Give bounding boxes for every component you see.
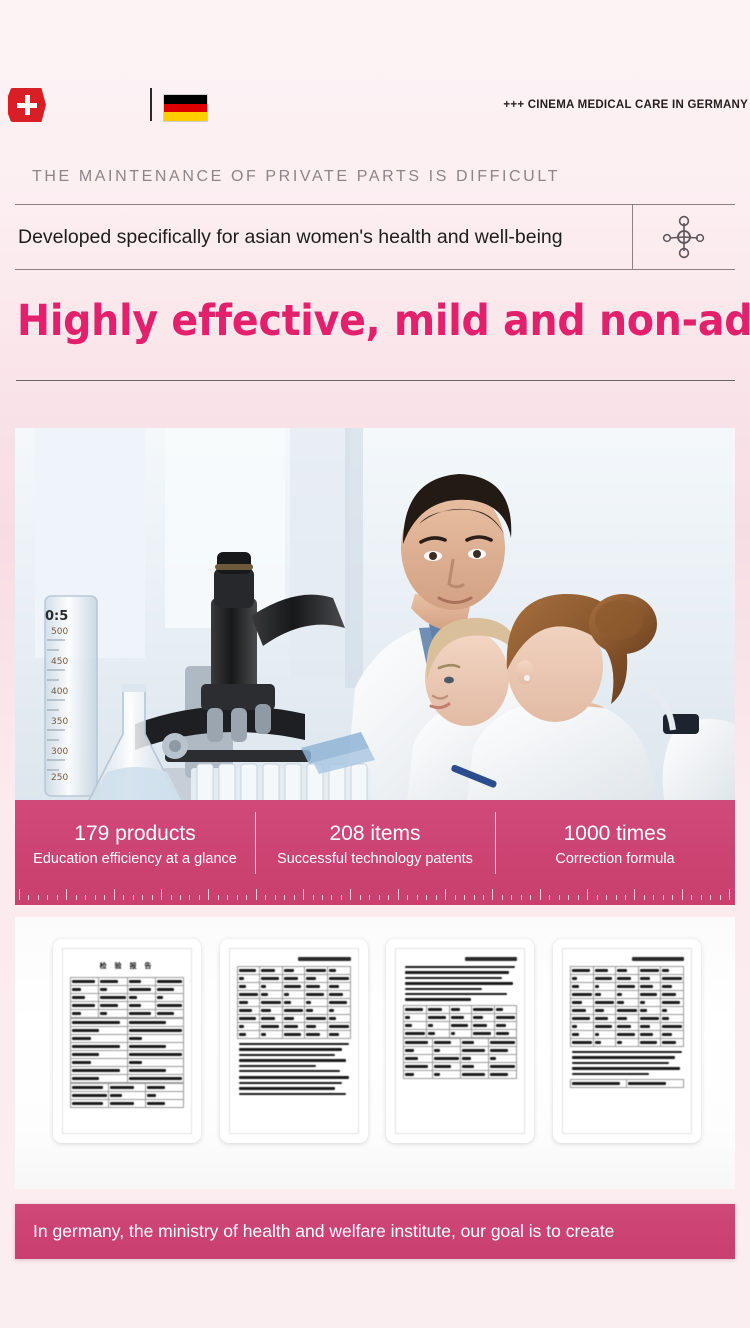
cert-table-cell: [472, 1013, 495, 1021]
cert-table-row: [570, 1031, 683, 1039]
ruler-tick: [455, 895, 456, 900]
cert-text-blur: [239, 1033, 246, 1036]
cert-text-blur: [306, 1033, 320, 1036]
cert-text-blur: [157, 980, 182, 983]
ruler-tick: [474, 895, 475, 900]
cert-table-row: [404, 1021, 517, 1029]
cert-table-row: [237, 983, 350, 991]
cert-table-cell: [661, 983, 684, 991]
stat-value: 208 items: [255, 820, 495, 848]
cert-text-blur: [110, 1102, 134, 1105]
cert-table-cell: [108, 1092, 146, 1100]
ruler-tick: [133, 895, 134, 900]
ruler-tick: [625, 895, 626, 900]
cert-text-blur: [306, 977, 316, 980]
cert-table-cell: [127, 1051, 184, 1059]
cert-table-row: [404, 1005, 517, 1013]
cert-table-cell: [155, 1002, 183, 1010]
cert-table-cell: [616, 1007, 639, 1015]
cert-table-row: [71, 1035, 184, 1043]
cert-table-cell: [460, 1046, 488, 1054]
cert-text-blur: [239, 1009, 253, 1012]
cert-text-blur: [239, 1065, 316, 1067]
cert-table-row: [71, 1043, 184, 1051]
cert-table-row: [237, 1015, 350, 1023]
ruler-tick: [720, 895, 721, 900]
cert-text-blur: [405, 977, 502, 979]
cert-text-blur: [239, 1017, 257, 1020]
cert-table-cell: [570, 967, 593, 975]
cert-table-row: [71, 1067, 184, 1075]
cert-text-blur: [640, 1033, 654, 1036]
kicker-text: THE MAINTENANCE OF PRIVATE PARTS IS DIFF…: [32, 168, 560, 186]
cert-table-cell: [237, 1031, 260, 1039]
cert-table-cell: [404, 1046, 432, 1054]
ruler-tick: [322, 895, 323, 900]
cert-table-cell: [426, 1029, 449, 1037]
cert-table-cell: [489, 1054, 517, 1062]
svg-text:500: 500: [51, 627, 68, 637]
cert-text-blur: [662, 969, 669, 972]
subhead-bar: Developed specifically for asian women's…: [15, 204, 735, 270]
cert-table-cell: [570, 1015, 593, 1023]
cert-table-cell: [638, 999, 661, 1007]
cert-text-blur: [490, 1065, 515, 1068]
cert-table-row: [570, 1015, 683, 1023]
ruler-tick: [549, 895, 550, 900]
cert-text-blur: [129, 1069, 166, 1072]
cert-table-cell: [593, 999, 616, 1007]
ruler-tick: [19, 889, 20, 900]
cert-table-cell: [494, 1013, 517, 1021]
cert-table-row: [404, 1038, 517, 1046]
cert-text-blur: [462, 1073, 485, 1076]
cert-table-cell: [305, 1015, 328, 1023]
ruler-tick: [540, 889, 541, 900]
cert-table-cell: [71, 978, 99, 986]
cert-table-cell: [328, 1007, 351, 1015]
ruler-tick: [634, 889, 635, 900]
cert-text-blur: [129, 988, 152, 991]
cert-table-row: [237, 991, 350, 999]
cert-text-blur: [662, 1017, 669, 1020]
ruler-tick: [360, 895, 361, 900]
ruler-tick: [729, 889, 730, 900]
cert-text-blur: [473, 1016, 483, 1019]
cert-table-row: [570, 1007, 683, 1015]
cert-text-blur: [473, 1032, 491, 1035]
cert-table-cell: [404, 1038, 432, 1046]
ruler-tick: [701, 895, 702, 900]
cert-text-blur: [284, 985, 302, 988]
cert-table-cell: [404, 1054, 432, 1062]
cert-text-blur: [239, 1059, 347, 1061]
cert-table-cell: [282, 1007, 305, 1015]
cert-table-cell: [661, 1023, 684, 1031]
ruler-tick: [284, 895, 285, 900]
cert-text-blur: [110, 1094, 122, 1097]
cert-table-cell: [99, 1010, 127, 1018]
cert-table-cell: [449, 1021, 472, 1029]
cert-table-cell: [305, 983, 328, 991]
cert-text-blur: [490, 1073, 508, 1076]
cert-table: [70, 1018, 184, 1083]
cert-table-cell: [237, 1023, 260, 1031]
certificate-thumbnail[interactable]: 检 验 报 告: [53, 939, 201, 1143]
cert-table-cell: [71, 1084, 109, 1092]
cert-table-cell: [460, 1054, 488, 1062]
cert-text-blur: [129, 1053, 183, 1056]
stat-value: 1000 times: [495, 820, 735, 848]
cert-table-cell: [570, 1079, 627, 1087]
cert-text-blur: [662, 1033, 672, 1036]
cert-table-cell: [155, 986, 183, 994]
cert-text-blur: [595, 993, 602, 996]
cert-table-row: [71, 1002, 184, 1010]
cert-table-cell: [282, 999, 305, 1007]
cert-table-cell: [71, 1092, 109, 1100]
cert-table-row: [71, 1075, 184, 1083]
cert-table-row: [71, 1084, 184, 1092]
hero-lab-photo: 500450 400350 300250 0:5: [15, 428, 735, 803]
cert-table-cell: [593, 1031, 616, 1039]
cert-table-row: [71, 1027, 184, 1035]
cert-table-row: [404, 1054, 517, 1062]
cert-text-blur: [72, 1086, 103, 1089]
certificate-thumbnail[interactable]: [553, 939, 701, 1143]
cert-table: [403, 1038, 517, 1079]
cert-text-blur: [239, 1054, 336, 1056]
cert-table-cell: [404, 1062, 432, 1070]
cert-text-blur: [329, 985, 339, 988]
cert-table-cell: [305, 991, 328, 999]
cert-table-row: [404, 1062, 517, 1070]
svg-text:300: 300: [51, 747, 68, 757]
ruler-tick: [388, 895, 389, 900]
cert-table-cell: [328, 967, 351, 975]
cert-text-blur: [100, 988, 106, 991]
cert-table-cell: [328, 983, 351, 991]
cert-text-blur: [72, 1012, 81, 1015]
cert-table: [70, 977, 184, 1018]
ruler-tick: [379, 895, 380, 900]
ruler-tick: [587, 889, 588, 900]
cert-text-blur: [572, 1056, 675, 1058]
cert-text-blur: [617, 969, 627, 972]
ruler-tick: [350, 889, 351, 900]
cert-text-blur: [595, 1041, 602, 1044]
cert-table-row: [404, 1070, 517, 1078]
cert-text-blur: [329, 1033, 339, 1036]
cert-text-blur: [617, 1025, 631, 1028]
ruler-tick: [313, 895, 314, 900]
ruler-tick: [76, 895, 77, 900]
cert-text-blur: [640, 1001, 645, 1004]
cert-table-cell: [282, 991, 305, 999]
ruler-tick: [218, 895, 219, 900]
cert-table-cell: [638, 1031, 661, 1039]
cert-text-blur: [284, 1033, 302, 1036]
cert-text-blur: [306, 1009, 313, 1012]
cert-table-cell: [661, 1007, 684, 1015]
cert-text-blur: [129, 996, 138, 999]
cert-text-blur: [284, 1001, 291, 1004]
cert-table-cell: [449, 1013, 472, 1021]
cert-text-blur: [617, 1041, 622, 1044]
cert-table-cell: [282, 983, 305, 991]
cert-text-blur: [261, 1025, 279, 1028]
cert-table-cell: [460, 1062, 488, 1070]
cert-text-blur: [405, 1032, 425, 1035]
cert-table-cell: [127, 1035, 184, 1043]
cert-text-blur: [462, 1057, 471, 1060]
cert-table-cell: [71, 1002, 99, 1010]
cert-table-cell: [146, 1100, 184, 1108]
cert-table-cell: [260, 967, 283, 975]
cert-table-cell: [638, 975, 661, 983]
ruler-tick: [663, 895, 664, 900]
cert-header-blur: [632, 957, 684, 961]
cert-table-cell: [460, 1038, 488, 1046]
cert-text-blur: [129, 1037, 142, 1040]
cert-table-row: [71, 1010, 184, 1018]
cert-table-row: [71, 1019, 184, 1027]
cert-table-cell: [71, 994, 99, 1002]
cert-table-row: [71, 1100, 184, 1108]
flag-stripe-red: [164, 104, 207, 113]
cert-text-blur: [572, 977, 577, 980]
cert-table-cell: [328, 975, 351, 983]
cert-text-blur: [428, 1016, 446, 1019]
cert-table-cell: [593, 991, 616, 999]
cert-table-cell: [404, 1021, 427, 1029]
ruler-tick: [275, 895, 276, 900]
cert-table-cell: [127, 1027, 184, 1035]
cert-text-blur: [572, 969, 590, 972]
cert-text-blur: [662, 1009, 667, 1012]
cert-text-blur: [595, 1025, 613, 1028]
cert-table-cell: [127, 978, 155, 986]
cert-table-cell: [472, 1021, 495, 1029]
cert-text-blur: [157, 996, 163, 999]
cert-table-cell: [260, 983, 283, 991]
cert-text-blur: [405, 982, 513, 984]
cert-table-cell: [432, 1038, 460, 1046]
cert-table-cell: [127, 1019, 184, 1027]
ruler-tick: [199, 895, 200, 900]
cert-table-cell: [489, 1062, 517, 1070]
flag-stripe-black: [164, 95, 207, 104]
cert-table-cell: [71, 1067, 128, 1075]
cert-text-blur: [434, 1041, 452, 1044]
cert-text-blur: [329, 977, 349, 980]
cert-table-cell: [661, 1039, 684, 1047]
cert-text-blur: [261, 1017, 275, 1020]
ruler-tick: [559, 895, 560, 900]
certificate-thumbnail[interactable]: [386, 939, 534, 1143]
cert-table-cell: [71, 1035, 128, 1043]
cert-table-row: [71, 994, 184, 1002]
cert-text-blur: [329, 1001, 347, 1004]
cert-table-row: [237, 1007, 350, 1015]
cert-text-blur: [405, 1073, 414, 1076]
ruler-tick: [417, 895, 418, 900]
ruler-tick: [341, 895, 342, 900]
cert-table-cell: [328, 991, 351, 999]
certificate-thumbnail[interactable]: [220, 939, 368, 1143]
cert-text-blur: [239, 977, 244, 980]
cert-text-blur: [490, 1049, 508, 1052]
cert-table-cell: [282, 975, 305, 983]
cert-table-row: [570, 1039, 683, 1047]
cert-table-cell: [108, 1084, 146, 1092]
cert-table-cell: [570, 1039, 593, 1047]
cert-table-cell: [616, 1015, 639, 1023]
ruler-tick: [66, 889, 67, 900]
cert-table-cell: [260, 1007, 283, 1015]
cert-text-blur: [405, 1057, 418, 1060]
cert-text-blur: [100, 1012, 106, 1015]
cert-text-blur: [306, 993, 324, 996]
cert-text-blur: [129, 1061, 142, 1064]
cert-text-blur: [434, 1065, 452, 1068]
cert-table-cell: [260, 991, 283, 999]
cert-text-blur: [617, 985, 635, 988]
cert-text-blur: [147, 1086, 164, 1089]
ruler-tick: [483, 895, 484, 900]
cert-table-cell: [260, 975, 283, 983]
cert-table-cell: [99, 994, 127, 1002]
cert-text-blur: [284, 969, 294, 972]
ruler-tick: [445, 889, 446, 900]
cert-text-blur: [110, 1086, 134, 1089]
cert-table-cell: [570, 999, 593, 1007]
certificate-sheet: [229, 948, 359, 1134]
cert-table-cell: [237, 967, 260, 975]
cert-table-cell: [449, 1029, 472, 1037]
cert-text-blur: [72, 1004, 95, 1007]
cert-table-row: [570, 999, 683, 1007]
ruler-tick: [682, 889, 683, 900]
stats-band: 179 products Education efficiency at a g…: [15, 800, 735, 905]
cert-table-cell: [127, 1010, 155, 1018]
ruler-tick: [644, 895, 645, 900]
molecule-icon-box: [632, 205, 735, 269]
cert-text-blur: [72, 1102, 103, 1105]
cert-text-blur: [129, 980, 142, 983]
ruler-tick: [511, 895, 512, 900]
cert-text-blur: [640, 969, 660, 972]
cert-table-cell: [127, 1067, 184, 1075]
stat-label: Successful technology patents: [255, 848, 495, 870]
cert-text-blur: [428, 1032, 435, 1035]
cert-text-blur: [595, 1033, 600, 1036]
cert-text-blur: [405, 1008, 423, 1011]
ruler-tick: [436, 895, 437, 900]
stat-value: 179 products: [15, 820, 255, 848]
cert-text-blur: [261, 985, 266, 988]
cert-text-blur: [572, 1017, 590, 1020]
cert-table-cell: [570, 991, 593, 999]
cert-text-blur: [595, 1017, 609, 1020]
cert-text-blur: [640, 1017, 660, 1020]
cert-text-blur: [239, 1070, 340, 1072]
cert-text-blur: [129, 1029, 183, 1032]
cert-header-blur: [298, 957, 350, 961]
ruler-tick: [710, 895, 711, 900]
cert-text-blur: [129, 1077, 183, 1080]
page-title: Highly effective, mild and non-addictive: [17, 296, 747, 346]
cert-text-blur: [572, 1041, 592, 1044]
cert-text-blur: [405, 971, 508, 973]
ruler-tick: [530, 895, 531, 900]
cert-table-cell: [108, 1100, 146, 1108]
molecule-icon: [660, 214, 708, 260]
cert-table-cell: [127, 994, 155, 1002]
cert-text-blur: [100, 996, 125, 999]
cert-text-blur: [572, 1073, 649, 1075]
headline-rule: [16, 380, 735, 381]
cert-table: [403, 1005, 517, 1038]
ruler-tick: [38, 895, 39, 900]
cert-text-blur: [628, 1082, 665, 1085]
ruler-tick: [578, 895, 579, 900]
bottom-statement-text: In germany, the ministry of health and w…: [15, 1221, 614, 1242]
cert-text-blur: [662, 1001, 680, 1004]
cert-text-blur: [434, 1049, 440, 1052]
cert-table-cell: [489, 1070, 517, 1078]
cert-text-blur: [595, 985, 600, 988]
cert-text-blur: [405, 998, 471, 1000]
svg-text:250: 250: [51, 773, 68, 783]
ruler-tick: [142, 895, 143, 900]
ruler-tick: [246, 895, 247, 900]
cert-table-cell: [237, 999, 260, 1007]
cert-text-blur: [490, 1057, 496, 1060]
cert-table-cell: [570, 983, 593, 991]
cert-text-blur: [572, 1025, 577, 1028]
cert-text-blur: [451, 1016, 465, 1019]
cert-text-blur: [72, 1045, 120, 1048]
cert-table-cell: [432, 1070, 460, 1078]
cert-table-row: [237, 975, 350, 983]
cert-table-cell: [593, 1007, 616, 1015]
cert-text-blur: [595, 1001, 615, 1004]
cert-text-blur: [239, 1082, 342, 1084]
cert-table-cell: [432, 1054, 460, 1062]
cert-text-blur: [72, 1021, 120, 1024]
stat-item: 179 products Education efficiency at a g…: [15, 800, 255, 870]
cert-table-row: [404, 1013, 517, 1021]
ruler-tick: [28, 895, 29, 900]
ruler-tick: [616, 895, 617, 900]
certificates-panel: 检 验 报 告: [15, 917, 735, 1189]
stat-label: Correction formula: [495, 848, 735, 870]
cert-text-blur: [239, 1093, 347, 1095]
cert-text-blur: [129, 1045, 166, 1048]
cert-table-row: [71, 986, 184, 994]
cert-table-cell: [593, 983, 616, 991]
cert-text-blur: [640, 1009, 647, 1012]
cert-table-cell: [426, 1021, 449, 1029]
ruler-tick: [464, 895, 465, 900]
cert-text-blur: [496, 1024, 506, 1027]
cert-table-cell: [489, 1038, 517, 1046]
ruler-tick: [208, 889, 209, 900]
cert-table-cell: [593, 1015, 616, 1023]
flag-stripe-gold: [164, 112, 207, 121]
ruler-ticks: [15, 887, 735, 900]
